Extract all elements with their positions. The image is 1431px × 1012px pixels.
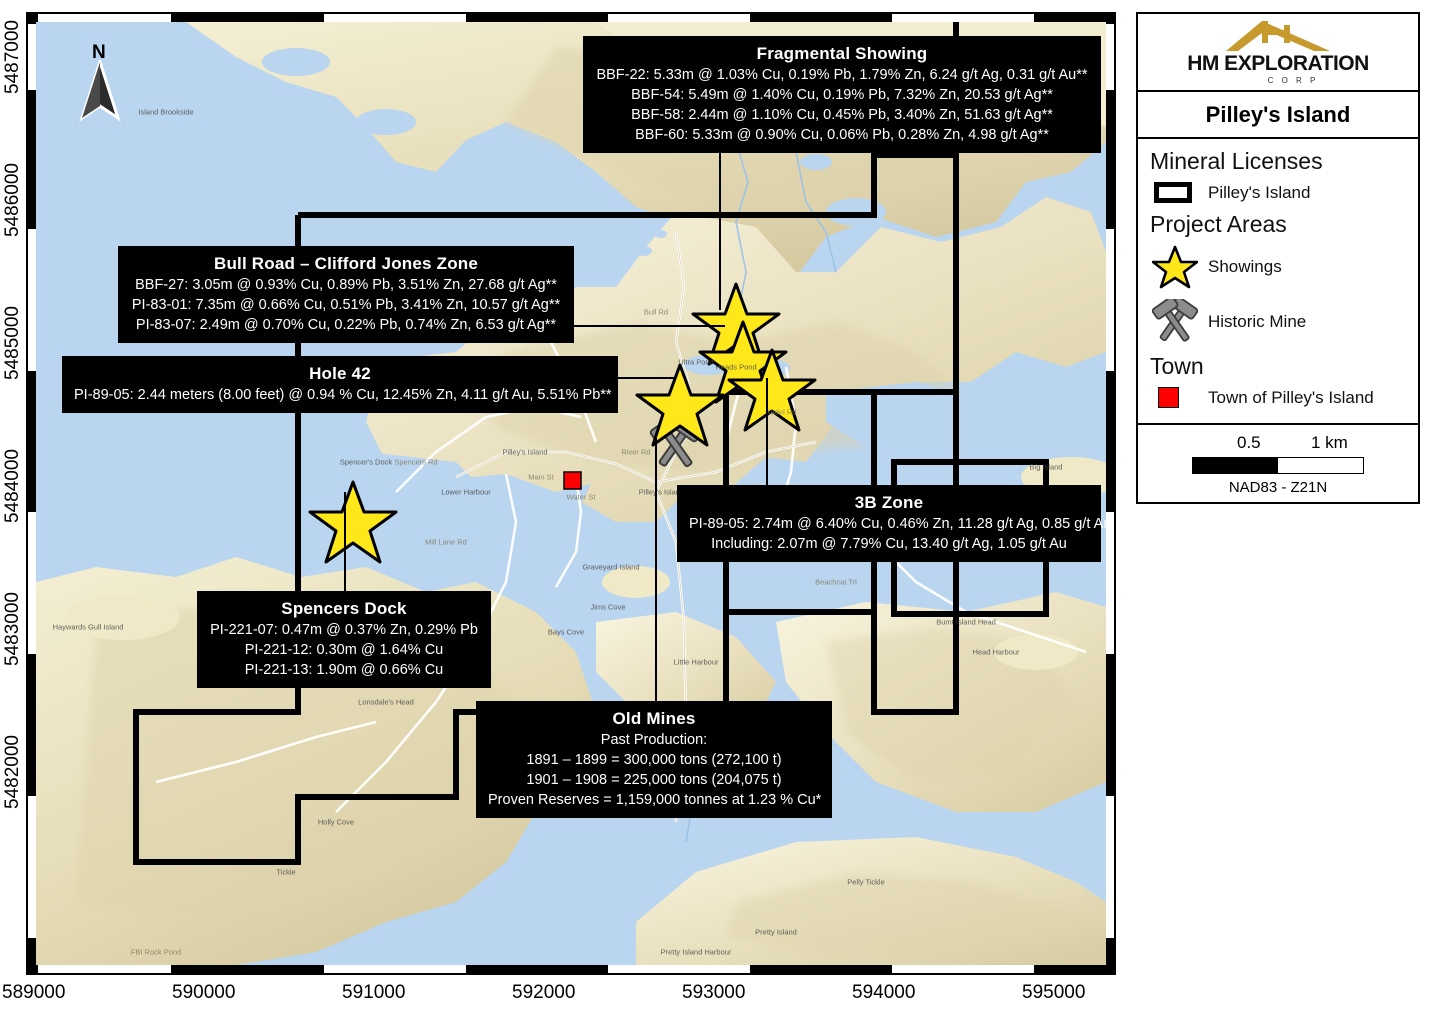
north-letter: N [92, 42, 106, 64]
x-tick-label: 592000 [512, 982, 575, 1004]
x-tick-label: 591000 [342, 982, 405, 1004]
callout-line: PI-83-07: 2.49m @ 0.70% Cu, 0.22% Pb, 0.… [130, 315, 562, 335]
callout-line: PI-89-05: 2.74m @ 6.40% Cu, 0.46% Zn, 11… [689, 514, 1089, 534]
red-square-icon [1152, 387, 1208, 408]
y-tick-label: 5482000 [2, 735, 24, 809]
pond-small-a [634, 246, 652, 256]
callout-line: PI-221-07: 0.47m @ 0.37% Zn, 0.29% Pb [209, 620, 479, 640]
legend-item-historic-mine[interactable]: Historic Mine [1138, 294, 1418, 350]
scalebar-graphic [1192, 457, 1364, 474]
logo-subtext: C O R P [1217, 76, 1369, 86]
island-east-small [994, 634, 1078, 670]
callout-title: Fragmental Showing [595, 42, 1089, 65]
north-arrow: N [78, 42, 122, 140]
border-ticks-top [28, 14, 1114, 22]
border-ticks-bottom [28, 965, 1114, 973]
scalebar-tick-mid: 0.5 [1237, 433, 1261, 453]
legend-heading-project-areas: Project Areas [1138, 208, 1418, 240]
callout-old-mines[interactable]: Old Mines Past Production: 1891 – 1899 =… [476, 701, 832, 818]
pond-small-e [800, 154, 832, 170]
callout-bull-road-clifford-jones-zone[interactable]: Bull Road – Clifford Jones Zone BBF-27: … [118, 246, 574, 343]
callout-line: Proven Reserves = 1,159,000 tonnes at 1.… [488, 790, 820, 810]
legend-item-pilleys-island-license[interactable]: Pilley's Island [1138, 177, 1418, 208]
callout-line: Past Production: [488, 730, 820, 750]
legend-panel: HM EXPLORATION C O R P Pilley's Island M… [1136, 12, 1420, 504]
callout-title: Hole 42 [74, 362, 606, 385]
callout-line: 1901 – 1908 = 225,000 tons (204,075 t) [488, 770, 820, 790]
callout-line: BBF-27: 3.05m @ 0.93% Cu, 0.89% Pb, 3.51… [130, 275, 562, 295]
island-haywards [64, 596, 180, 640]
leader-3b [766, 378, 768, 486]
scalebar-datum: NAD83 - Z21N [1138, 479, 1418, 496]
callout-title: 3B Zone [689, 491, 1089, 514]
pond-small-g [262, 48, 330, 76]
callout-fragmental-showing[interactable]: Fragmental Showing BBF-22: 5.33m @ 1.03%… [583, 36, 1101, 153]
callout-line: PI-89-05: 2.44 meters (8.00 feet) @ 0.94… [74, 385, 606, 405]
y-tick-label: 5485000 [2, 306, 24, 380]
callout-line: BBF-22: 5.33m @ 1.03% Cu, 0.19% Pb, 1.79… [595, 65, 1089, 85]
scalebar-ticks: 0.5 1 km [1171, 433, 1385, 455]
border-ticks-left [28, 14, 36, 973]
x-tick-label: 589000 [2, 982, 65, 1004]
callout-line: 1891 – 1899 = 300,000 tons (272,100 t) [488, 750, 820, 770]
callout-line: BBF-54: 5.49m @ 1.40% Cu, 0.19% Pb, 7.32… [595, 85, 1089, 105]
x-tick-label: 594000 [852, 982, 915, 1004]
callout-hole-42[interactable]: Hole 42 PI-89-05: 2.44 meters (8.00 feet… [62, 356, 618, 413]
leader-spencers [344, 492, 346, 592]
hm-logo-icon [1218, 19, 1338, 53]
callout-line: Including: 2.07m @ 7.79% Cu, 13.40 g/t A… [689, 534, 1089, 554]
callout-title: Bull Road – Clifford Jones Zone [130, 252, 562, 275]
legend-item-town-of-pilleys-island[interactable]: Town of Pilley's Island [1138, 382, 1418, 413]
pond-small-f [356, 109, 416, 135]
callout-spencers-dock[interactable]: Spencers Dock PI-221-07: 0.47m @ 0.37% Z… [197, 591, 491, 688]
island-graveyard [602, 566, 670, 598]
callout-line: BBF-60: 5.33m @ 0.90% Cu, 0.06% Pb, 0.28… [595, 125, 1089, 145]
y-tick-label: 5483000 [2, 592, 24, 666]
logo-wordmark: HM EXPLORATION [1187, 53, 1369, 75]
legend-item-label: Showings [1208, 257, 1282, 277]
callout-title: Old Mines [488, 707, 820, 730]
pond-small-b [655, 230, 667, 238]
leader-fragmental [719, 145, 721, 310]
town-marker [564, 472, 581, 489]
legend-title: Pilley's Island [1138, 92, 1418, 139]
leader-bullroad [570, 325, 725, 327]
border-ticks-right [1106, 14, 1114, 973]
leader-oldmines [655, 438, 657, 706]
legend-scalebar: 0.5 1 km NAD83 - Z21N [1138, 425, 1418, 502]
legend-heading-town: Town [1138, 350, 1418, 382]
license-outline-swatch-icon [1152, 182, 1208, 203]
callout-line: PI-221-12: 0.30m @ 1.64% Cu [209, 640, 479, 660]
scalebar-tick-end: 1 km [1311, 433, 1348, 453]
scalebar-half-empty [1278, 458, 1363, 473]
callout-3b-zone[interactable]: 3B Zone PI-89-05: 2.74m @ 6.40% Cu, 0.46… [677, 485, 1101, 562]
legend-item-label: Town of Pilley's Island [1208, 388, 1374, 408]
callout-line: BBF-58: 2.44m @ 1.10% Cu, 0.45% Pb, 3.40… [595, 105, 1089, 125]
legend-item-showings[interactable]: Showings [1138, 240, 1418, 294]
y-tick-label: 5484000 [2, 449, 24, 523]
callout-line: PI-221-13: 1.90m @ 0.66% Cu [209, 660, 479, 680]
yellow-star-icon [1152, 245, 1208, 289]
leader-hole42 [614, 377, 676, 379]
callout-title: Spencers Dock [209, 597, 479, 620]
x-tick-label: 593000 [682, 982, 745, 1004]
crossed-hammers-icon [1152, 299, 1208, 345]
legend-heading-mineral-licenses: Mineral Licenses [1138, 145, 1418, 177]
y-tick-label: 5486000 [2, 163, 24, 237]
legend-item-label: Pilley's Island [1208, 183, 1310, 203]
legend-body: Mineral Licenses Pilley's Island Project… [1138, 139, 1418, 425]
legend-logo: HM EXPLORATION C O R P [1138, 14, 1418, 92]
callout-line: PI-83-01: 7.35m @ 0.66% Cu, 0.51% Pb, 3.… [130, 295, 562, 315]
scalebar-half-filled [1193, 458, 1278, 473]
x-tick-label: 590000 [172, 982, 235, 1004]
x-tick-label: 595000 [1022, 982, 1085, 1004]
y-tick-label: 5487000 [2, 20, 24, 94]
legend-item-label: Historic Mine [1208, 312, 1306, 332]
